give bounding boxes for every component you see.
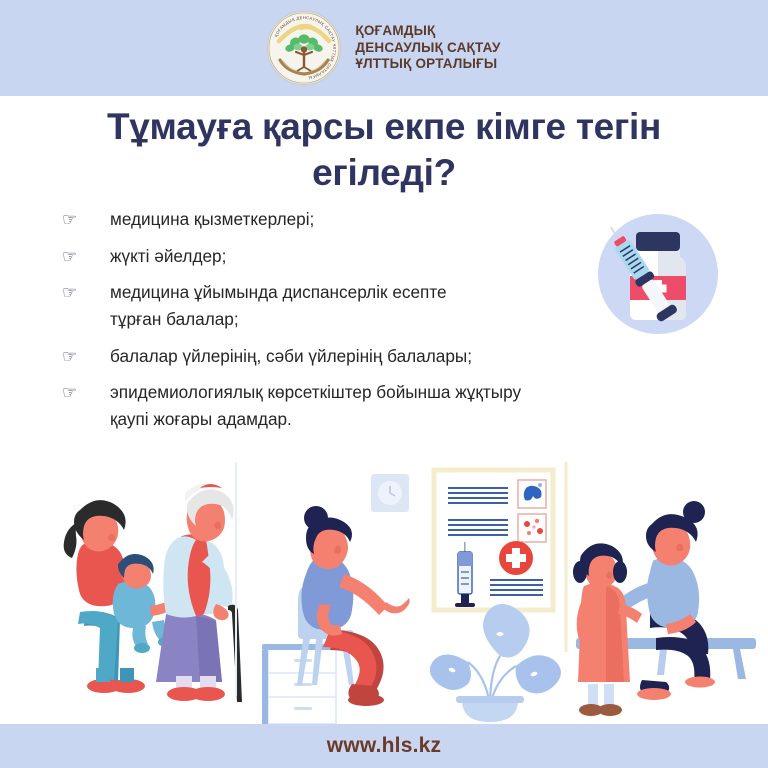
list-item-label: эпидемиологиялық көрсеткіштер бойынша жұ… — [110, 379, 632, 433]
list-item: ☞ медицина ұйымында диспансерлік есепте … — [52, 279, 632, 333]
poster-thumbnail-virus — [518, 514, 546, 542]
hair-bun — [683, 501, 705, 523]
infographic-poster: ҚОҒАМДЫҚ ДЕНСАУЛЫҚ САҚТАУ ҰЛТТЫҚ ОРТАЛЫҒ… — [0, 0, 768, 768]
national-public-health-center-emblem: ҚОҒАМДЫҚ ДЕНСАУЛЫҚ САҚТАУ ҰЛТТЫҚ ОРТАЛЫҒ… — [267, 11, 341, 85]
list-item-label: медицина ұйымында диспансерлік есепте тұ… — [110, 279, 632, 333]
pointing-hand-icon: ☞ — [52, 279, 110, 306]
information-poster — [434, 470, 553, 610]
vaccine-icon-artwork — [592, 208, 724, 340]
list-item: ☞ медицина қызметкерлері; — [52, 206, 632, 233]
list-item-line-1: медицина ұйымында диспансерлік есепте — [110, 282, 447, 302]
list-item-label: балалар үйлерінің, сәби үйлерінің балала… — [110, 343, 632, 370]
pigtail-left — [573, 561, 587, 583]
list-item-label: жүкті әйелдер; — [110, 243, 632, 270]
eligibility-list: ☞ медицина қызметкерлері; ☞ жүкті әйелде… — [52, 206, 632, 443]
hair-bun — [304, 506, 328, 530]
organization-name: ҚОҒАМДЫҚ ДЕНСАУЛЫҚ САҚТАУ ҰЛТТЫҚ ОРТАЛЫҒ… — [355, 23, 500, 73]
list-item-line-1: эпидемиологиялық көрсеткіштер бойынша жұ… — [110, 382, 521, 402]
pointing-hand-icon: ☞ — [52, 243, 110, 270]
list-item: ☞ балалар үйлерінің, сәби үйлерінің бала… — [52, 343, 632, 370]
vaccine-bottle-and-syringe-icon — [592, 208, 724, 340]
poster-red-cross-badge — [499, 541, 533, 575]
list-item-label: медицина қызметкерлері; — [110, 206, 632, 233]
list-item-line-2: қаупі жоғары адамдар. — [110, 406, 632, 433]
pointing-hand-icon: ☞ — [52, 379, 110, 406]
footer-band: www.hls.kz — [0, 724, 768, 768]
list-item-line-2: тұрған балалар; — [110, 306, 632, 333]
list-item: ☞ жүкті әйелдер; — [52, 243, 632, 270]
pointing-hand-icon: ☞ — [52, 343, 110, 370]
logo-artwork: ҚОҒАМДЫҚ ДЕНСАУЛЫҚ САҚТАУ ҰЛТТЫҚ ОРТАЛЫҒ… — [267, 11, 341, 85]
poster-thumbnail-lungs — [518, 480, 546, 508]
list-item: ☞ эпидемиологиялық көрсеткіштер бойынша … — [52, 379, 632, 433]
bottle-cap — [636, 232, 680, 251]
page-title: Тұмауға қарсы екпе кімге тегін егіледі? — [60, 104, 708, 196]
wall-clock — [371, 474, 409, 512]
pointing-hand-icon: ☞ — [52, 206, 110, 233]
clinic-waiting-room-illustration — [0, 462, 768, 724]
website-url[interactable]: www.hls.kz — [327, 734, 441, 758]
header-band: ҚОҒАМДЫҚ ДЕНСАУЛЫҚ САҚТАУ ҰЛТТЫҚ ОРТАЛЫҒ… — [0, 0, 768, 96]
scene-artwork — [0, 462, 768, 724]
pigtail-right — [613, 561, 627, 583]
